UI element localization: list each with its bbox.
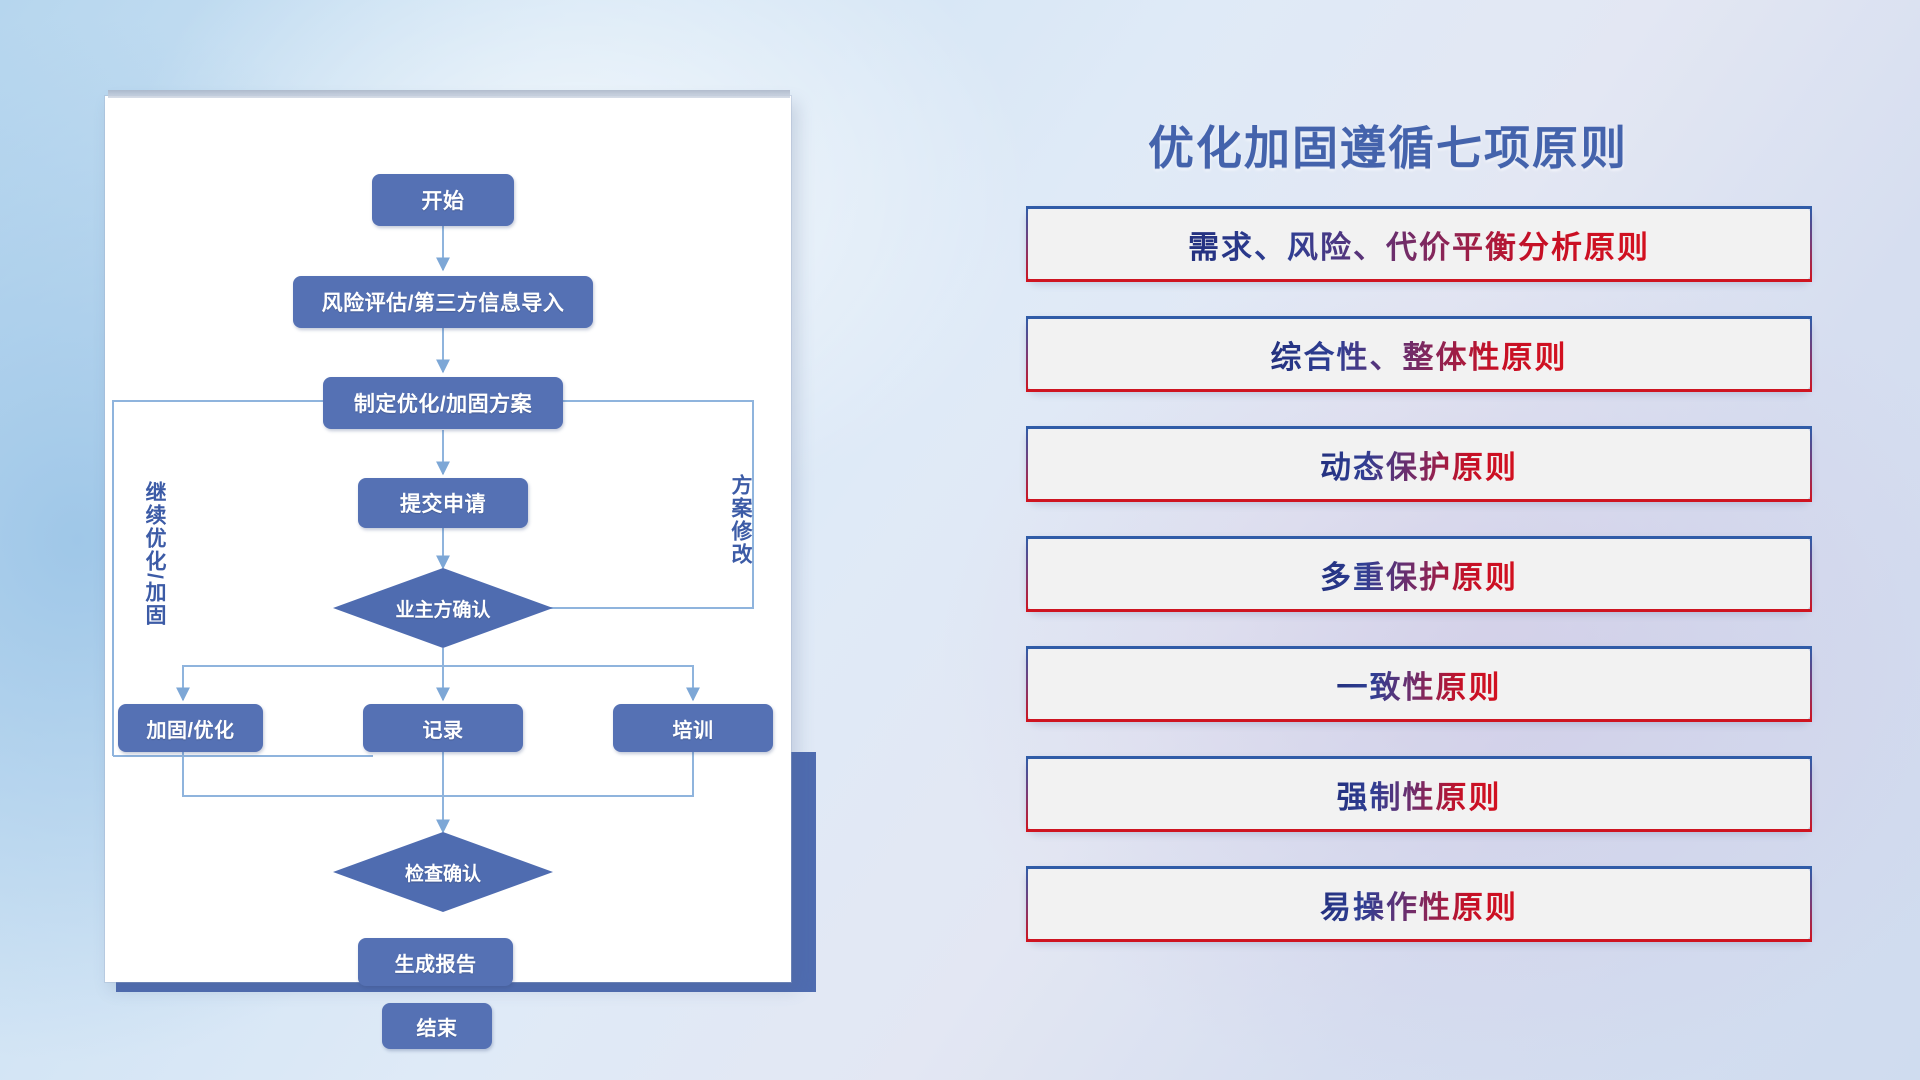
principle-card-label: 综合性、整体性原则 — [1271, 332, 1568, 377]
principle-card-label: 需求、风险、代价平衡分析原则 — [1188, 222, 1650, 267]
principle-card[interactable]: 综合性、整体性原则 — [1026, 316, 1812, 392]
flow-node-start[interactable]: 开始 — [372, 174, 514, 226]
flow-edge-label-left-loop: 继续优化/加固 — [139, 481, 169, 627]
flow-node-submit-label: 提交申请 — [400, 488, 486, 518]
flow-node-reinforce[interactable]: 加固/优化 — [118, 704, 263, 752]
flow-node-training-label: 培训 — [673, 714, 714, 743]
principle-card[interactable]: 一致性原则 — [1026, 646, 1812, 722]
principle-card-label: 多重保护原则 — [1320, 552, 1518, 597]
flow-node-owner-confirm-label: 业主方确认 — [395, 595, 490, 622]
flow-node-risk-assessment-label: 风险评估/第三方信息导入 — [322, 287, 565, 317]
flow-node-reinforce-label: 加固/优化 — [146, 714, 234, 743]
principle-card[interactable]: 多重保护原则 — [1026, 536, 1812, 612]
flow-node-submit[interactable]: 提交申请 — [358, 478, 528, 528]
panel-title: 优化加固遵循七项原则 — [1148, 112, 1628, 178]
flow-node-end-label: 结束 — [417, 1012, 458, 1041]
flow-node-end[interactable]: 结束 — [382, 1003, 492, 1049]
principle-card[interactable]: 需求、风险、代价平衡分析原则 — [1026, 206, 1812, 282]
flow-node-record-label: 记录 — [423, 714, 464, 743]
principle-card[interactable]: 强制性原则 — [1026, 756, 1812, 832]
principle-card[interactable]: 易操作性原则 — [1026, 866, 1812, 942]
flow-edge-label-right-loop: 方案修改 — [725, 474, 755, 566]
principle-card-label: 易操作性原则 — [1320, 882, 1518, 927]
flow-node-training[interactable]: 培训 — [613, 704, 773, 752]
principle-card-label: 动态保护原则 — [1320, 442, 1518, 487]
flow-node-report[interactable]: 生成报告 — [358, 938, 513, 986]
flow-node-record[interactable]: 记录 — [363, 704, 523, 752]
flowchart-card: 开始 风险评估/第三方信息导入 制定优化/加固方案 提交申请 业主方确认 加固/… — [105, 96, 791, 982]
principles-panel: 优化加固遵循七项原则 需求、风险、代价平衡分析原则 综合性、整体性原则 动态保护… — [1000, 90, 1840, 1030]
flow-node-plan-label: 制定优化/加固方案 — [354, 388, 532, 418]
flow-node-check-confirm-label: 检查确认 — [405, 859, 481, 886]
principle-card-list: 需求、风险、代价平衡分析原则 综合性、整体性原则 动态保护原则 多重保护原则 一… — [1026, 206, 1812, 976]
principle-card-label: 强制性原则 — [1337, 772, 1502, 817]
flow-node-plan[interactable]: 制定优化/加固方案 — [323, 377, 563, 429]
flowchart-canvas: 开始 风险评估/第三方信息导入 制定优化/加固方案 提交申请 业主方确认 加固/… — [105, 96, 791, 982]
flow-node-report-label: 生成报告 — [395, 948, 477, 977]
principle-card[interactable]: 动态保护原则 — [1026, 426, 1812, 502]
principle-card-label: 一致性原则 — [1337, 662, 1502, 707]
flow-node-start-label: 开始 — [422, 185, 465, 215]
flow-node-risk-assessment[interactable]: 风险评估/第三方信息导入 — [293, 276, 593, 328]
